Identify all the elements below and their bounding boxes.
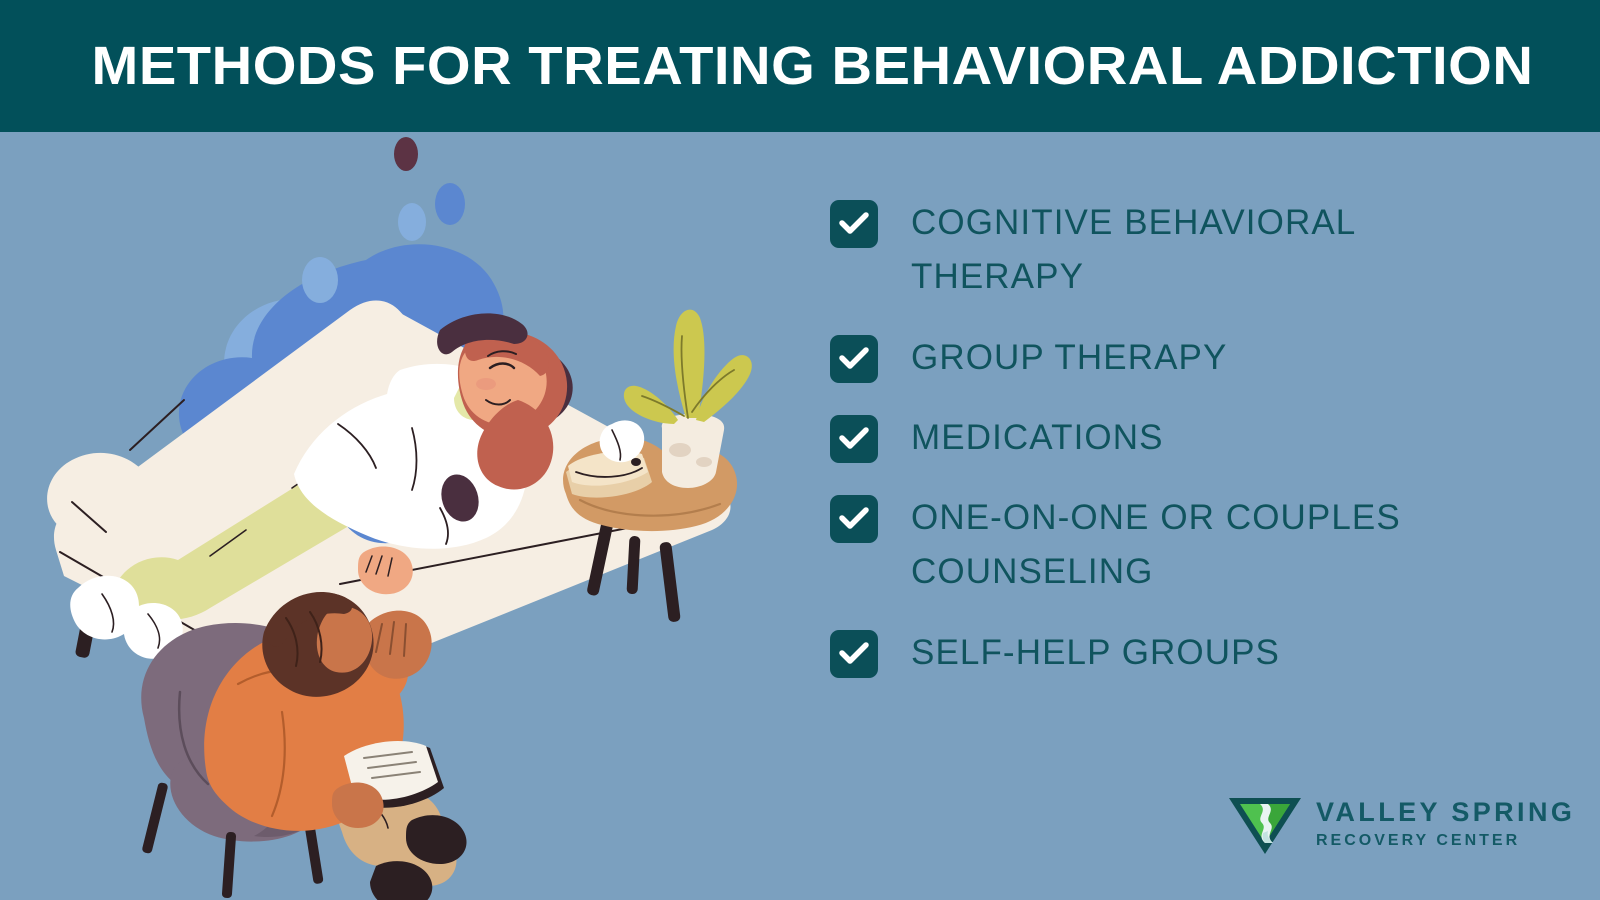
side-table: [563, 310, 752, 623]
list-item-label: SELF-HELP GROUPS: [911, 626, 1280, 680]
list-item-label: ONE-ON-ONE OR COUPLES COUNSELING: [911, 491, 1510, 600]
treatment-methods-checklist: COGNITIVE BEHAVIORAL THERAPY GROUP THERA…: [830, 196, 1510, 680]
list-item[interactable]: ONE-ON-ONE OR COUPLES COUNSELING: [830, 491, 1510, 600]
checkbox-checked-icon[interactable]: [830, 415, 878, 463]
list-item[interactable]: MEDICATIONS: [830, 411, 1510, 465]
floating-dot-icon: [394, 137, 418, 171]
checkbox-checked-icon[interactable]: [830, 630, 878, 678]
page-title: METHODS FOR TREATING BEHAVIORAL ADDICTIO…: [0, 39, 1533, 93]
therapy-session-illustration: [20, 132, 800, 900]
list-item[interactable]: SELF-HELP GROUPS: [830, 626, 1510, 680]
logo-tagline: RECOVERY CENTER: [1316, 831, 1575, 850]
logo-brand-name: VALLEY SPRING: [1316, 798, 1575, 826]
header-bar: METHODS FOR TREATING BEHAVIORAL ADDICTIO…: [0, 0, 1600, 132]
list-item-label: GROUP THERAPY: [911, 331, 1227, 385]
logo-text-block: VALLEY SPRING RECOVERY CENTER: [1316, 798, 1575, 851]
valley-spring-chevron-icon: [1228, 793, 1302, 855]
list-item[interactable]: GROUP THERAPY: [830, 331, 1510, 385]
list-item-label: COGNITIVE BEHAVIORAL THERAPY: [911, 196, 1510, 305]
checkbox-checked-icon[interactable]: [830, 495, 878, 543]
list-item-label: MEDICATIONS: [911, 411, 1164, 465]
checkbox-checked-icon[interactable]: [830, 335, 878, 383]
infographic-canvas: METHODS FOR TREATING BEHAVIORAL ADDICTIO…: [0, 0, 1600, 900]
list-item[interactable]: COGNITIVE BEHAVIORAL THERAPY: [830, 196, 1510, 305]
brand-logo[interactable]: VALLEY SPRING RECOVERY CENTER: [1228, 793, 1575, 855]
checkbox-checked-icon[interactable]: [830, 200, 878, 248]
